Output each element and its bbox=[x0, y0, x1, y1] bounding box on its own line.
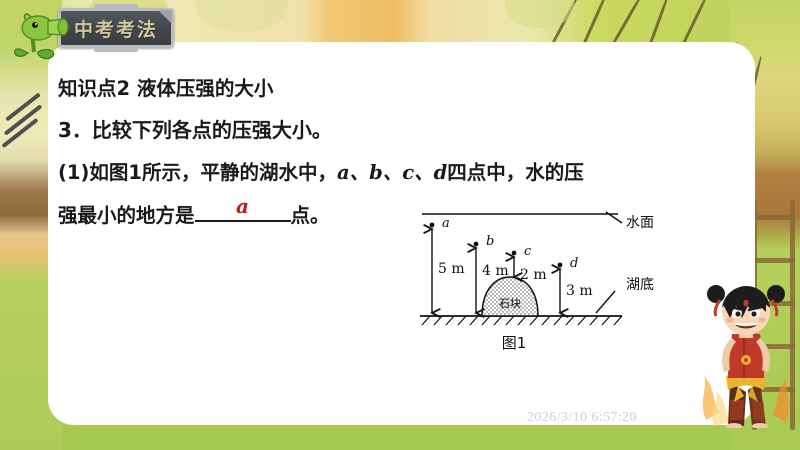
sub-question-text-b: 四点中，水的压 bbox=[447, 161, 584, 184]
ladder-rung bbox=[752, 215, 795, 220]
question-3-line: 3．比较下列各点的压强大小。 bbox=[58, 114, 332, 143]
depth-c-label: 2 m bbox=[520, 267, 547, 283]
nezha-mascot-icon bbox=[694, 280, 798, 428]
question-1-line-2: 强最小的地方是a点。 bbox=[58, 199, 330, 228]
point-a-label: a bbox=[442, 216, 450, 231]
question-number: 3． bbox=[58, 118, 92, 142]
water-surface-label: 水面 bbox=[626, 215, 654, 231]
sub-question-label: (1) bbox=[58, 161, 89, 184]
point-b-marker bbox=[474, 242, 479, 247]
section-badge-label: 中考考法 bbox=[58, 8, 174, 48]
sub-question-text-d: 点。 bbox=[291, 204, 330, 227]
lake-bottom-leader bbox=[596, 291, 615, 313]
depth-b-label: 4 m bbox=[482, 263, 509, 279]
point-c-label: c bbox=[524, 244, 532, 259]
ground-hatching bbox=[422, 316, 622, 325]
points-inline-labels: a、b、c、d bbox=[337, 161, 447, 184]
figure-svg: 石块 a 5 m b 4 m c 2 m d 3 m 水面 湖底 图1 bbox=[410, 203, 690, 358]
answer-blank[interactable]: a bbox=[195, 200, 291, 222]
point-d-label: d bbox=[570, 256, 578, 271]
point-a-marker bbox=[430, 223, 435, 228]
question-1-line-1: (1)如图1所示，平静的湖水中，a、b、c、d四点中，水的压 bbox=[58, 156, 584, 185]
page-title: 知识点2 液体压强的大小 bbox=[58, 72, 273, 101]
point-c-marker bbox=[512, 251, 517, 256]
sub-question-text-c: 强最小的地方是 bbox=[58, 204, 195, 227]
point-b-label: b bbox=[486, 234, 494, 249]
sub-question-text-a: 如图1所示，平静的湖水中， bbox=[89, 161, 337, 184]
answer-value: a bbox=[236, 194, 249, 218]
physics-figure-lake: 石块 a 5 m b 4 m c 2 m d 3 m 水面 湖底 图1 bbox=[410, 203, 690, 358]
ladder-rung bbox=[752, 258, 795, 263]
peashooter-icon bbox=[8, 10, 70, 62]
question-text: 比较下列各点的压强大小。 bbox=[92, 118, 332, 142]
depth-d-label: 3 m bbox=[566, 283, 593, 299]
timestamp-watermark: 2026/3/10 6:57:20 bbox=[527, 410, 637, 426]
rock-label: 石块 bbox=[499, 297, 521, 310]
lake-bottom-label: 湖底 bbox=[626, 277, 654, 293]
depth-a-label: 5 m bbox=[438, 261, 465, 277]
point-d-marker bbox=[558, 263, 563, 268]
figure-caption: 图1 bbox=[502, 334, 527, 352]
section-badge: 中考考法 bbox=[58, 8, 174, 48]
